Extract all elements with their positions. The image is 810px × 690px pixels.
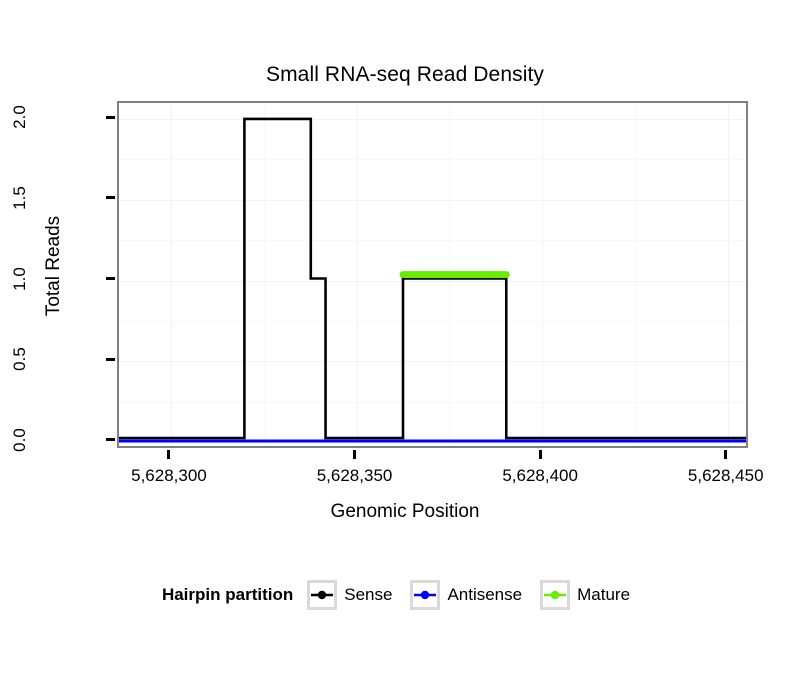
x-tick-mark [724,450,727,459]
legend-label: Antisense [447,585,522,605]
legend-entry-antisense[interactable]: Antisense [410,580,530,610]
x-tick-label: 5,628,350 [275,466,435,486]
legend-title: Hairpin partition [162,585,293,605]
x-tick-mark [353,450,356,459]
x-tick-label: 5,628,400 [460,466,620,486]
legend-label: Mature [577,585,630,605]
chart-title: Small RNA-seq Read Density [0,62,810,88]
legend-entry-sense[interactable]: Sense [307,580,400,610]
chart-legend: Hairpin partition SenseAntisenseMature [0,580,810,610]
legend-entries: SenseAntisenseMature [307,580,648,610]
y-axis-title: Total Reads [43,166,65,366]
x-tick-mark [539,450,542,459]
series-layer [119,103,746,446]
chart-figure: Small RNA-seq Read Density Total Reads G… [0,0,810,690]
y-tick-mark [106,277,115,280]
legend-key-mature-icon [540,580,570,610]
series-line-sense [119,119,746,438]
x-tick-label: 5,628,300 [89,466,249,486]
legend-key-sense-icon [307,580,337,610]
x-tick-mark [167,450,170,459]
y-tick-label: 2.0 [11,87,29,147]
y-tick-mark [106,116,115,119]
x-tick-label: 5,628,450 [646,466,806,486]
legend-key-antisense-icon [410,580,440,610]
legend-entry-mature[interactable]: Mature [540,580,638,610]
plot-panel [117,101,748,448]
y-tick-label: 1.0 [11,249,29,309]
y-tick-mark [106,196,115,199]
y-tick-mark [106,438,115,441]
y-tick-label: 0.5 [11,329,29,389]
y-tick-mark [106,358,115,361]
plot-area [119,103,746,446]
y-tick-label: 0.0 [11,410,29,470]
legend-label: Sense [344,585,392,605]
y-tick-label: 1.5 [11,168,29,228]
x-axis-title: Genomic Position [0,500,810,524]
